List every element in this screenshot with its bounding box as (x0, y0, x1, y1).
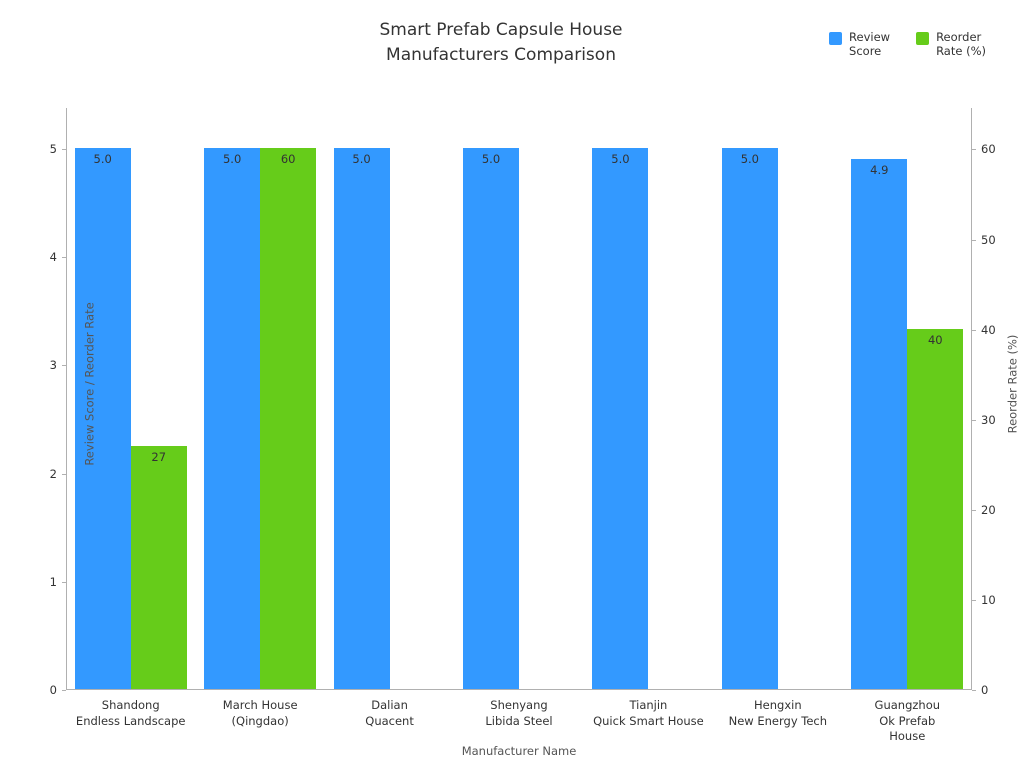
x-tick-label: March House (Qingdao) (223, 698, 298, 729)
y-tick-left-mark (62, 365, 66, 366)
y-axis-right-label: Reorder Rate (%) (1006, 335, 1020, 434)
x-tick-label: Shenyang Libida Steel (485, 698, 552, 729)
y-tick-left-label: 4 (50, 250, 57, 264)
legend-item-reorder-rate: Reorder Rate (%) (916, 30, 986, 59)
y-tick-right-label: 10 (981, 593, 996, 607)
y-tick-left-label: 3 (50, 358, 57, 372)
y-tick-left-label: 5 (50, 142, 57, 156)
x-tick-label: Dalian Quacent (365, 698, 414, 729)
bar-value-label: 5.0 (592, 152, 648, 166)
y-tick-right-label: 60 (981, 142, 996, 156)
legend-label-review-score: Review Score (849, 30, 890, 59)
y-tick-right-mark (972, 600, 976, 601)
x-tick-label: Guangzhou Ok Prefab House (875, 698, 941, 745)
bar-value-label: 27 (131, 450, 187, 464)
bar-value-label: 5.0 (334, 152, 390, 166)
y-tick-right-mark (972, 690, 976, 691)
bar-value-label: 60 (260, 152, 316, 166)
bar-value-label: 5.0 (75, 152, 131, 166)
bar-reorder-rate: 60 (260, 148, 316, 689)
y-tick-right-label: 20 (981, 503, 996, 517)
y-tick-right-mark (972, 149, 976, 150)
y-tick-right-mark (972, 510, 976, 511)
bar-review-score: 5.0 (334, 148, 390, 689)
y-tick-left-mark (62, 257, 66, 258)
y-tick-left-mark (62, 474, 66, 475)
plot-background (66, 108, 972, 690)
y-tick-right-mark (972, 420, 976, 421)
chart-figure: Smart Prefab Capsule House Manufacturers… (0, 0, 1024, 768)
y-tick-left-mark (62, 690, 66, 691)
x-tick-label: Hengxin New Energy Tech (729, 698, 827, 729)
plot-area: 012345 0102030405060 5.0275.0605.05.05.0… (66, 108, 972, 690)
y-tick-right-label: 0 (981, 683, 988, 697)
y-tick-right-mark (972, 330, 976, 331)
bar-value-label: 5.0 (722, 152, 778, 166)
y-tick-right-label: 30 (981, 413, 996, 427)
bar-review-score: 5.0 (463, 148, 519, 689)
legend-swatch-reorder-rate (916, 32, 929, 45)
bar-value-label: 40 (907, 333, 963, 347)
y-tick-left-mark (62, 149, 66, 150)
y-tick-left-label: 1 (50, 575, 57, 589)
legend-label-reorder-rate: Reorder Rate (%) (936, 30, 986, 59)
bar-reorder-rate: 40 (907, 329, 963, 689)
y-axis-left-line (66, 108, 67, 690)
y-tick-right-label: 50 (981, 233, 996, 247)
y-tick-left-label: 0 (50, 683, 57, 697)
bar-reorder-rate: 27 (131, 446, 187, 689)
bar-review-score: 5.0 (204, 148, 260, 689)
x-axis-label: Manufacturer Name (66, 744, 972, 758)
legend-swatch-review-score (829, 32, 842, 45)
bar-review-score: 5.0 (722, 148, 778, 689)
x-tick-label: Tianjin Quick Smart House (593, 698, 704, 729)
y-tick-right-label: 40 (981, 323, 996, 337)
bar-value-label: 5.0 (463, 152, 519, 166)
chart-legend: Review Score Reorder Rate (%) (829, 30, 986, 59)
y-axis-right-line (971, 108, 972, 690)
x-axis-line (66, 689, 972, 690)
y-tick-left-label: 2 (50, 467, 57, 481)
bar-review-score: 5.0 (592, 148, 648, 689)
x-tick-label: Shandong Endless Landscape (76, 698, 186, 729)
chart-title-text: Smart Prefab Capsule House Manufacturers… (379, 18, 622, 67)
bar-value-label: 5.0 (204, 152, 260, 166)
y-axis-left-label: Review Score / Reorder Rate (83, 302, 97, 465)
legend-item-review-score: Review Score (829, 30, 890, 59)
bar-review-score: 4.9 (851, 159, 907, 689)
y-tick-right-mark (972, 240, 976, 241)
y-tick-left-mark (62, 582, 66, 583)
bar-value-label: 4.9 (851, 163, 907, 177)
